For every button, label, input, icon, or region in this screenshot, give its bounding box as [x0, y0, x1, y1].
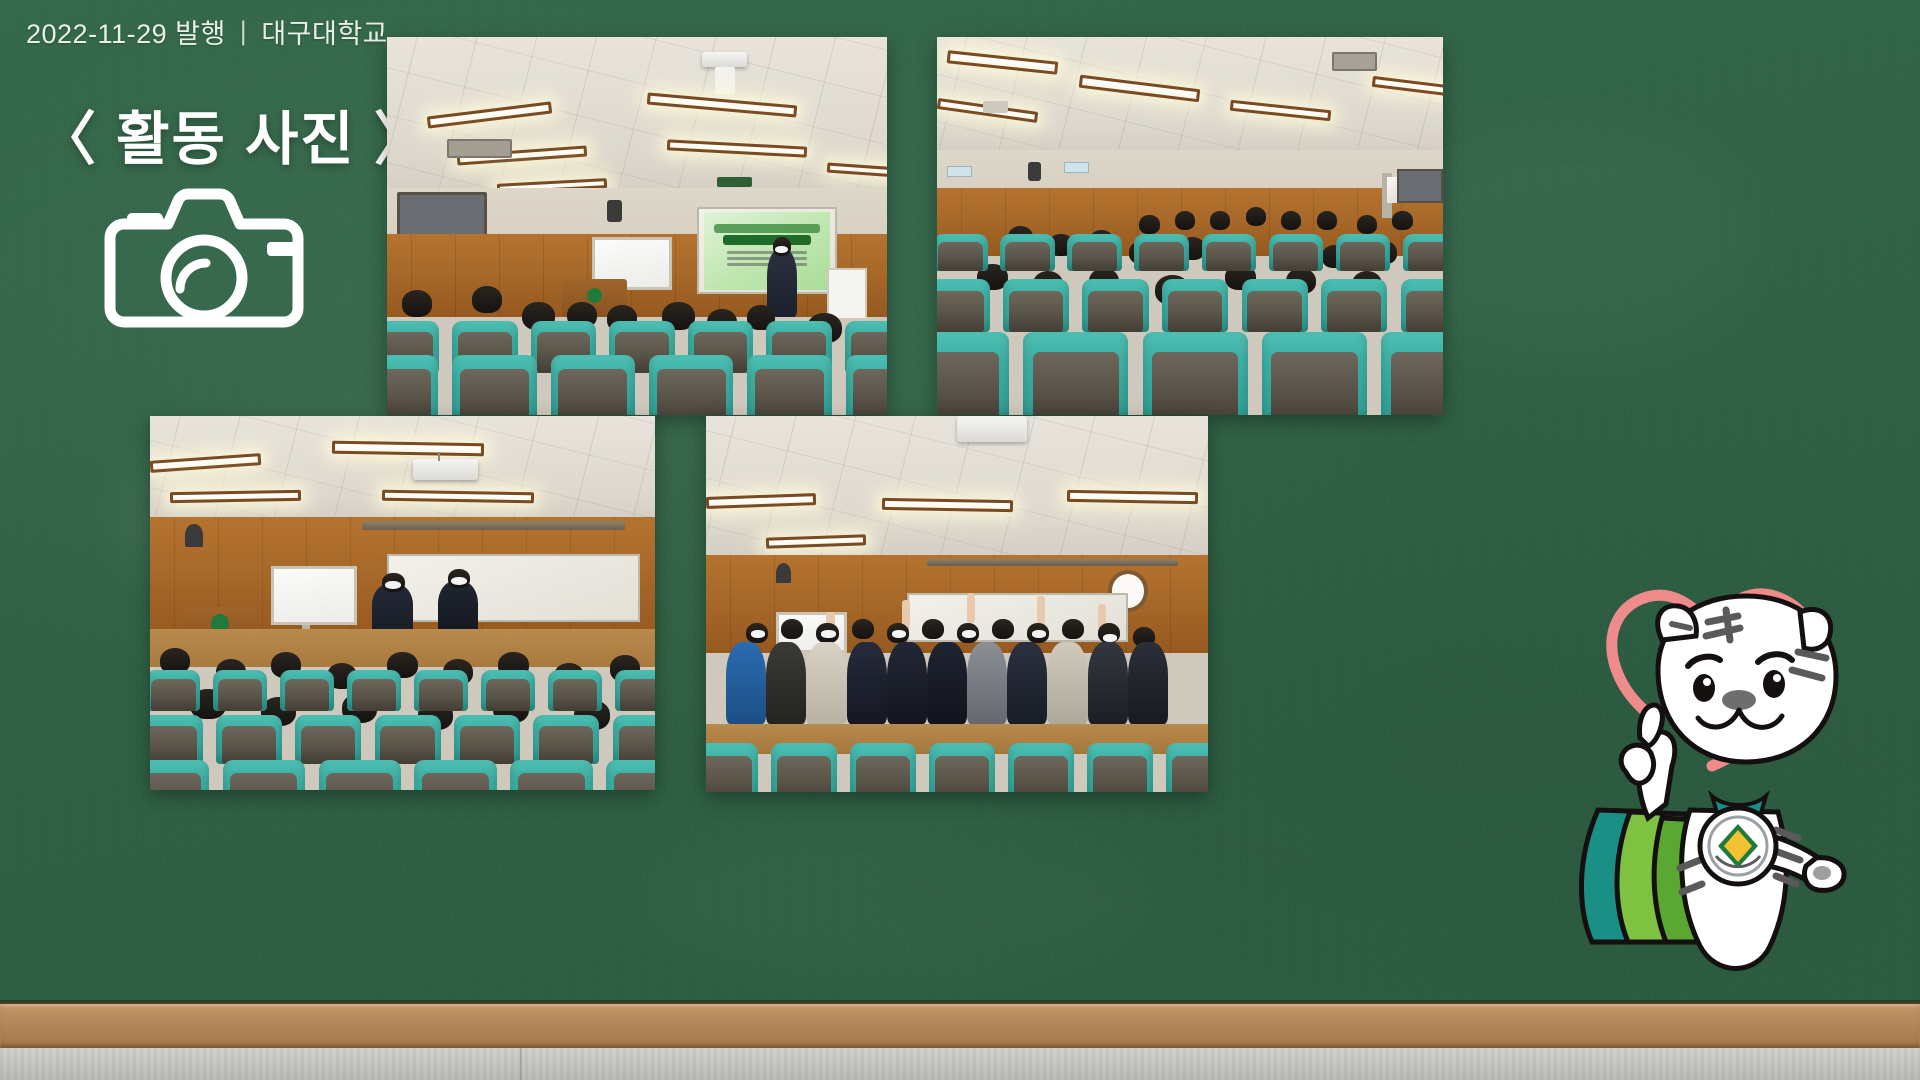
seat	[533, 715, 599, 764]
seat	[280, 670, 334, 711]
seat	[613, 715, 655, 764]
camera-icon	[104, 186, 304, 346]
seat	[747, 355, 831, 415]
seat-row	[387, 355, 887, 415]
face-mask	[892, 630, 906, 638]
whiteboard	[271, 566, 357, 626]
seat	[850, 743, 916, 792]
seat	[1067, 234, 1121, 272]
left-eye	[1693, 674, 1715, 702]
ceiling-projector	[413, 459, 479, 480]
photo-scene	[706, 416, 1208, 792]
group-member-head	[992, 619, 1014, 639]
projection-screen	[387, 554, 640, 621]
slide-title-line-1	[714, 224, 819, 233]
seat-row	[937, 234, 1443, 272]
right-eye	[1763, 670, 1785, 698]
speaker-person	[767, 249, 797, 317]
seat	[510, 760, 592, 790]
face-mask	[962, 630, 976, 638]
audience-head	[402, 290, 432, 316]
seat	[1008, 743, 1074, 792]
ear-stripe	[1672, 624, 1690, 628]
ceiling-lamp	[882, 498, 1013, 512]
seat-row	[937, 332, 1443, 415]
face-mask	[1103, 634, 1117, 642]
group-member-body	[847, 642, 887, 725]
audience-head	[1317, 211, 1337, 230]
audience-head	[1139, 215, 1159, 234]
seat	[1336, 234, 1390, 272]
seat	[387, 355, 438, 415]
ceiling-projector	[957, 416, 1027, 442]
seat	[1401, 279, 1443, 332]
seat	[606, 760, 655, 790]
seat	[1134, 234, 1188, 272]
seat	[414, 670, 468, 711]
seat	[295, 715, 361, 764]
seat	[319, 760, 401, 790]
wall-speaker	[1028, 162, 1041, 181]
seat	[1087, 743, 1153, 792]
projector-mount	[438, 452, 440, 461]
photo-scene	[150, 416, 655, 790]
audience-head	[1281, 211, 1301, 230]
seat	[213, 670, 267, 711]
face-mask	[1032, 630, 1046, 638]
seat	[1023, 332, 1128, 415]
group-member-head	[852, 619, 874, 639]
seat	[1242, 279, 1308, 332]
seat	[649, 355, 733, 415]
seat	[150, 715, 203, 764]
publish-date: 2022-11-29 발행	[26, 12, 226, 51]
group-member-body	[1047, 642, 1087, 725]
seat	[375, 715, 441, 764]
group-member-body	[967, 642, 1007, 725]
seat-row	[150, 760, 655, 790]
organization-name: 대구대학교	[261, 12, 388, 51]
exit-sign	[717, 177, 752, 187]
ceiling-sensor	[715, 67, 735, 93]
wall-plate	[1064, 162, 1089, 173]
seat	[937, 332, 1009, 415]
chalk-smudge	[640, 820, 1160, 980]
ceiling-lamp	[170, 490, 301, 504]
photo-top-left[interactable]	[387, 37, 887, 415]
fist	[1621, 745, 1653, 783]
seat	[1143, 332, 1248, 415]
wall-speaker	[185, 524, 202, 546]
wall-seam	[520, 1048, 522, 1080]
face-mask	[821, 630, 835, 638]
seat	[452, 355, 536, 415]
lower-wall	[0, 1048, 1920, 1080]
seat	[1162, 279, 1228, 332]
group-member-head	[781, 619, 803, 639]
screen-roller	[927, 559, 1178, 567]
seat	[1202, 234, 1256, 272]
group-member-body	[1007, 642, 1047, 725]
photo-top-right[interactable]	[937, 37, 1443, 415]
seat	[771, 743, 837, 792]
photo-scene	[937, 37, 1443, 415]
seat	[551, 355, 635, 415]
face-mask	[775, 246, 788, 254]
eye-glint	[1703, 678, 1711, 686]
seat	[414, 760, 496, 790]
dateline-separator: |	[240, 16, 248, 47]
audience-head	[1175, 211, 1195, 230]
dateline: 2022-11-29 발행 | 대구대학교	[26, 12, 388, 51]
slide-detail-line	[727, 251, 807, 254]
group-member-body	[726, 642, 766, 725]
audience-head	[1210, 211, 1230, 230]
seat	[937, 279, 990, 332]
ceiling	[150, 416, 655, 528]
nose	[1722, 690, 1756, 710]
seat	[1269, 234, 1323, 272]
group-member-head	[922, 619, 944, 639]
seat	[150, 670, 200, 711]
group-member-body	[766, 642, 806, 725]
seat	[1403, 234, 1443, 272]
photo-bottom-left[interactable]	[150, 416, 655, 790]
audience-head	[1357, 215, 1377, 234]
ceiling-sensor	[983, 101, 1008, 112]
seat	[1000, 234, 1054, 272]
ceiling-grid	[150, 416, 655, 528]
group-member-body	[887, 642, 927, 725]
slide-title-line-2	[723, 235, 811, 245]
audience-head	[1246, 207, 1266, 226]
seat	[1082, 279, 1148, 332]
photo-scene	[387, 37, 887, 415]
seat	[454, 715, 520, 764]
seat	[1003, 279, 1069, 332]
photo-bottom-right[interactable]	[706, 416, 1208, 792]
seat-row	[150, 715, 655, 764]
group-member-body	[1088, 642, 1128, 725]
group-member-head	[1062, 619, 1084, 639]
seat	[347, 670, 401, 711]
seat	[481, 670, 535, 711]
audience-head	[1392, 211, 1412, 230]
seat	[706, 743, 758, 792]
raised-hand	[902, 600, 910, 626]
group-member-body	[1128, 642, 1168, 725]
seat-row	[937, 279, 1443, 332]
ceiling-lamp	[1067, 490, 1198, 504]
seat-row	[150, 670, 655, 711]
seat	[223, 760, 305, 790]
ceiling-ac-vent	[1332, 52, 1378, 71]
group-member-body	[927, 642, 967, 725]
screen-roller	[362, 521, 625, 531]
wall-speaker	[607, 200, 622, 223]
slide-detail-line	[727, 257, 807, 260]
seat	[548, 670, 602, 711]
audience-head	[472, 286, 502, 312]
face-mask	[451, 577, 467, 585]
seat	[1321, 279, 1387, 332]
ceiling-projector	[702, 52, 747, 67]
seat	[929, 743, 995, 792]
face-mask	[385, 581, 401, 589]
seat	[937, 234, 988, 272]
seat-row	[706, 743, 1208, 792]
wall-speaker	[776, 563, 791, 584]
face-mask	[751, 630, 765, 638]
page-title: 〈 활동 사진 〉	[38, 92, 368, 176]
window-blind	[397, 192, 487, 237]
seat	[150, 760, 209, 790]
seat	[846, 355, 887, 415]
eye-glint	[1773, 674, 1781, 682]
seat	[1166, 743, 1208, 792]
seat	[1381, 332, 1443, 415]
white-tiger-mascot	[1540, 560, 1880, 985]
raised-hand	[967, 593, 975, 623]
seat	[1262, 332, 1367, 415]
paw-pad	[1813, 866, 1831, 880]
seat	[615, 670, 655, 711]
side-banner	[827, 268, 867, 321]
right-ear	[1800, 609, 1831, 649]
seat	[216, 715, 282, 764]
wall-plate	[947, 166, 972, 177]
group-member-body	[806, 642, 846, 725]
ceiling-ac-vent	[447, 139, 512, 158]
window-blind	[1397, 169, 1443, 203]
board-ledge	[0, 1004, 1920, 1048]
